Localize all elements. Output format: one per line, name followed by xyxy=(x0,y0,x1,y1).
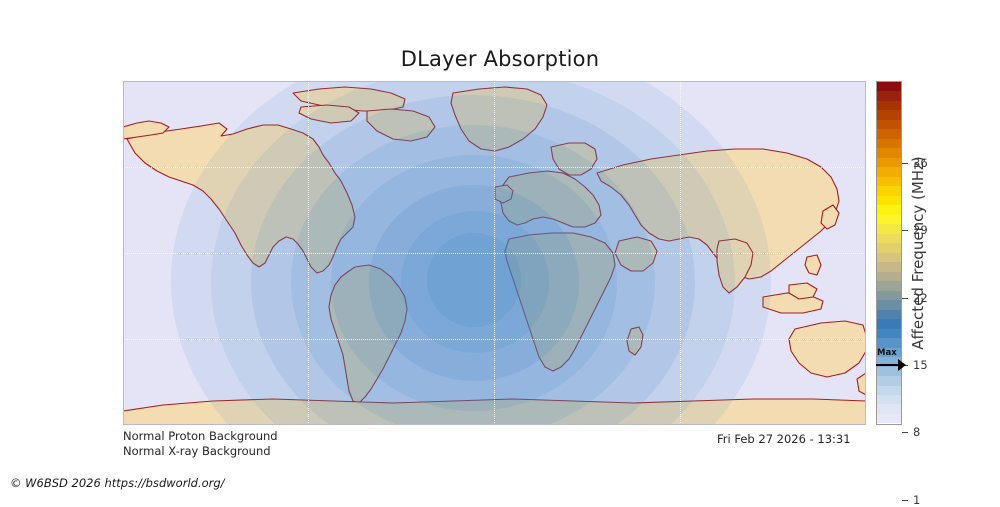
colorbar-band xyxy=(877,395,901,404)
colorbar-band xyxy=(877,404,901,413)
landmass-victoria xyxy=(299,105,359,123)
max-label: Max xyxy=(877,348,897,358)
status-xray: Normal X-ray Background xyxy=(123,444,278,459)
colorbar-tick-1: 1 xyxy=(902,493,920,507)
colorbar-band xyxy=(877,310,901,319)
landmass-antarctica xyxy=(123,399,866,425)
copyright-notice: © W6BSD 2026 https://bsdworld.org/ xyxy=(10,476,225,490)
colorbar-band xyxy=(877,215,901,224)
colorbar-band xyxy=(877,110,901,119)
landmass-europe xyxy=(501,171,601,227)
colorbar-band xyxy=(877,148,901,157)
colorbar-gradient xyxy=(876,81,902,425)
colorbar-band xyxy=(877,224,901,233)
landmass-baffin xyxy=(367,109,435,141)
colorbar-band xyxy=(877,101,901,110)
timestamp: Fri Feb 27 2026 - 13:31 xyxy=(717,432,851,446)
landmass-north-america xyxy=(127,123,355,273)
max-annotation: Max xyxy=(876,349,906,373)
colorbar-band xyxy=(877,177,901,186)
colorbar-band xyxy=(877,253,901,262)
colorbar-band xyxy=(877,243,901,252)
status-proton: Normal Proton Background xyxy=(123,429,278,444)
colorbar-band xyxy=(877,139,901,148)
colorbar-band xyxy=(877,281,901,290)
colorbar-tick-label: 8 xyxy=(913,425,920,439)
landmass-philippines xyxy=(805,255,821,275)
status-block: Normal Proton Background Normal X-ray Ba… xyxy=(123,429,278,459)
world-map xyxy=(123,81,866,425)
colorbar-band xyxy=(877,167,901,176)
landmass-australia xyxy=(789,321,866,377)
colorbar-band xyxy=(877,205,901,214)
colorbar-band xyxy=(877,386,901,395)
landmass-scandinavia xyxy=(551,143,597,175)
colorbar-band xyxy=(877,158,901,167)
colorbar-axis-label: Affected Frequency (MHz) xyxy=(905,81,931,425)
landmass-india xyxy=(717,239,753,293)
colorbar-band xyxy=(877,196,901,205)
colorbar-tick-8: 8 xyxy=(902,425,920,439)
colorbar-band xyxy=(877,82,901,91)
colorbar-tick-label: 1 xyxy=(913,493,920,507)
colorbar-band xyxy=(877,129,901,138)
landmass-south-america xyxy=(329,265,407,403)
landmass-arabia xyxy=(615,237,657,271)
colorbar-band xyxy=(877,329,901,338)
colorbar-band xyxy=(877,234,901,243)
landmass-madagascar xyxy=(627,327,643,355)
colorbar-band xyxy=(877,300,901,309)
colorbar-band xyxy=(877,272,901,281)
colorbar-band xyxy=(877,376,901,385)
colorbar-band xyxy=(877,319,901,328)
colorbar-band xyxy=(877,338,901,347)
colorbar-band xyxy=(877,414,901,423)
colorbar-band xyxy=(877,291,901,300)
colorbar-band xyxy=(877,262,901,271)
colorbar-band xyxy=(877,120,901,129)
map-panel[interactable] xyxy=(123,81,866,425)
landmass-greenland xyxy=(451,87,547,151)
landmass-new-zealand xyxy=(857,373,866,395)
colorbar-band xyxy=(877,186,901,195)
page-title: DLayer Absorption xyxy=(0,47,1000,71)
colorbar-band xyxy=(877,91,901,100)
colorbar[interactable]: 36 29 22 15 8 1 xyxy=(876,81,902,425)
landmass-africa xyxy=(505,233,615,371)
